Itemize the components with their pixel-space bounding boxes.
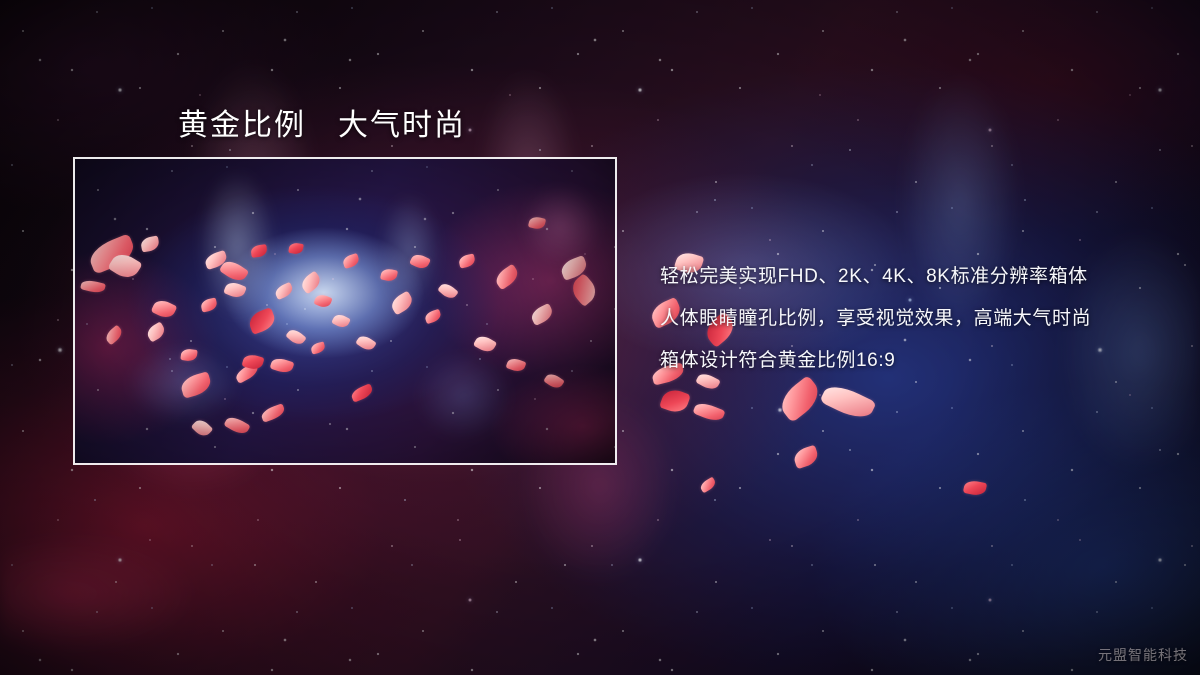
petal-decoration	[659, 386, 691, 416]
body-copy: 轻松完美实现FHD、2K、4K、8K标准分辨率箱体 人体眼睛瞳孔比例，享受视觉效…	[660, 256, 1180, 382]
picture-vignette	[75, 159, 615, 463]
body-line-1: 轻松完美实现FHD、2K、4K、8K标准分辨率箱体	[660, 256, 1180, 298]
petal-decoration	[775, 375, 825, 423]
body-line-2: 人体眼睛瞳孔比例，享受视觉效果，高端大气时尚	[660, 298, 1180, 340]
watermark: 元盟智能科技	[1098, 645, 1188, 665]
picture-frame	[73, 157, 617, 465]
petal-decoration	[963, 479, 987, 497]
picture-inner	[75, 159, 615, 463]
presentation-slide: 黄金比例 大气时尚 轻松完美实现FHD、2K、4K、8K标准分辨率箱体 人体眼睛…	[0, 0, 1200, 675]
petal-decoration	[819, 380, 876, 424]
petal-decoration	[699, 477, 718, 494]
page-title: 黄金比例 大气时尚	[178, 100, 466, 144]
petal-decoration	[792, 445, 820, 470]
petal-decoration	[692, 400, 725, 424]
body-line-3: 箱体设计符合黄金比例16:9	[660, 340, 1180, 382]
